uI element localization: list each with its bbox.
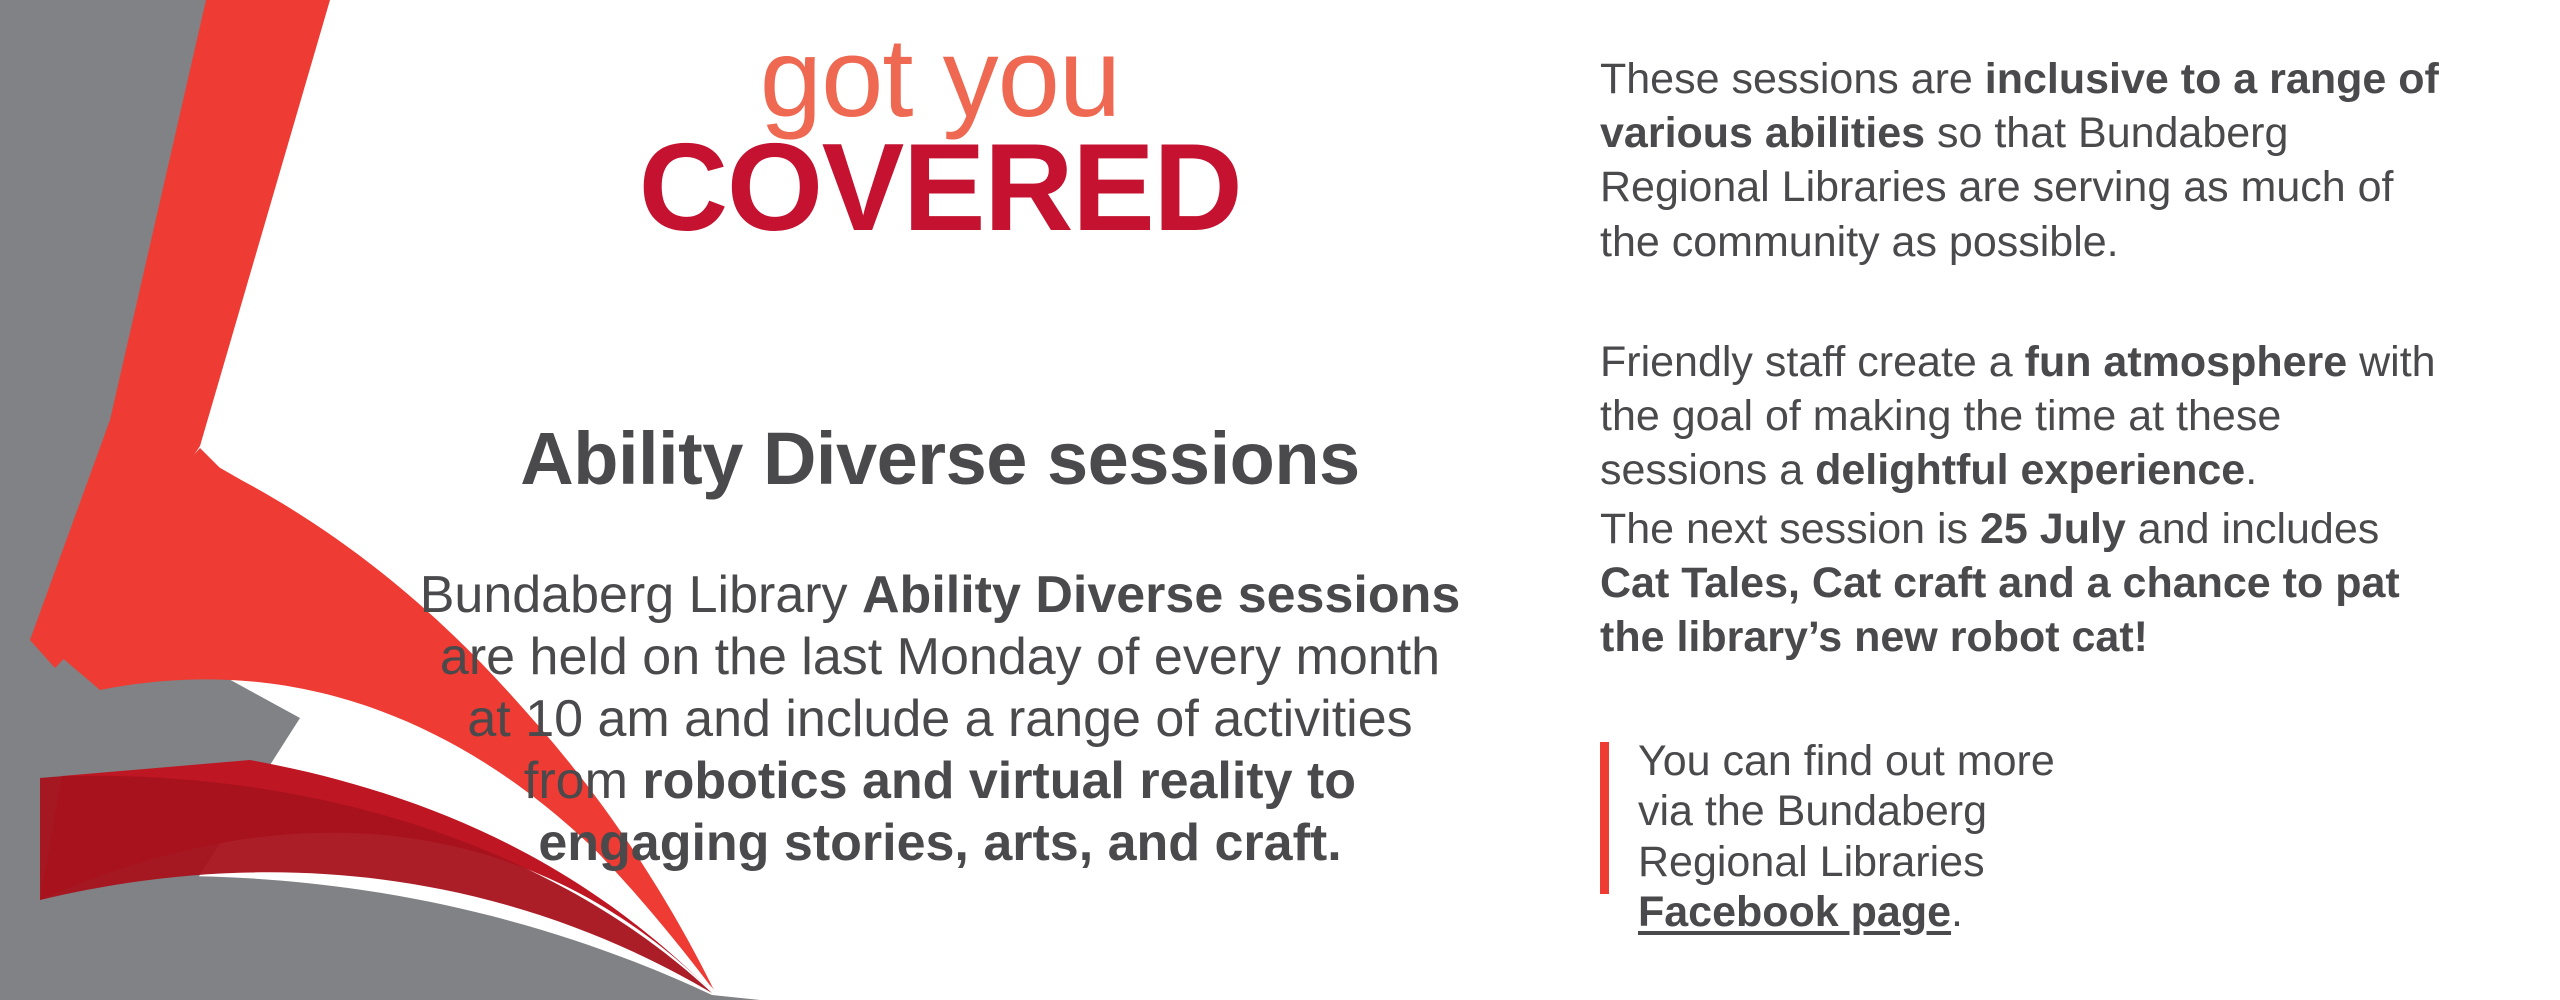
- headline-kicker: got you: [360, 22, 1520, 134]
- poster-canvas: got you COVERED Ability Diverse sessions…: [0, 0, 2560, 1000]
- right-paragraph-staff: Friendly staff create a fun atmosphere w…: [1600, 335, 2450, 498]
- right-paragraph-inclusive: These sessions are inclusive to a range …: [1600, 52, 2450, 269]
- right-content-column: These sessions are inclusive to a range …: [1600, 0, 2520, 1000]
- page-title: Ability Diverse sessions: [360, 420, 1520, 498]
- right-paragraph-next-session: The next session is 25 July and includes…: [1600, 502, 2450, 665]
- callout-text[interactable]: You can find out more via the Bundaberg …: [1638, 736, 2108, 937]
- headline-group: got you COVERED: [360, 22, 1520, 248]
- left-body-paragraph: Bundaberg Library Ability Diverse sessio…: [415, 565, 1465, 874]
- left-content-column: got you COVERED Ability Diverse sessions…: [360, 0, 1520, 1000]
- callout-block: You can find out more via the Bundaberg …: [1600, 740, 2500, 910]
- headline-covered: COVERED: [360, 130, 1520, 248]
- callout-accent-bar: [1600, 742, 1609, 894]
